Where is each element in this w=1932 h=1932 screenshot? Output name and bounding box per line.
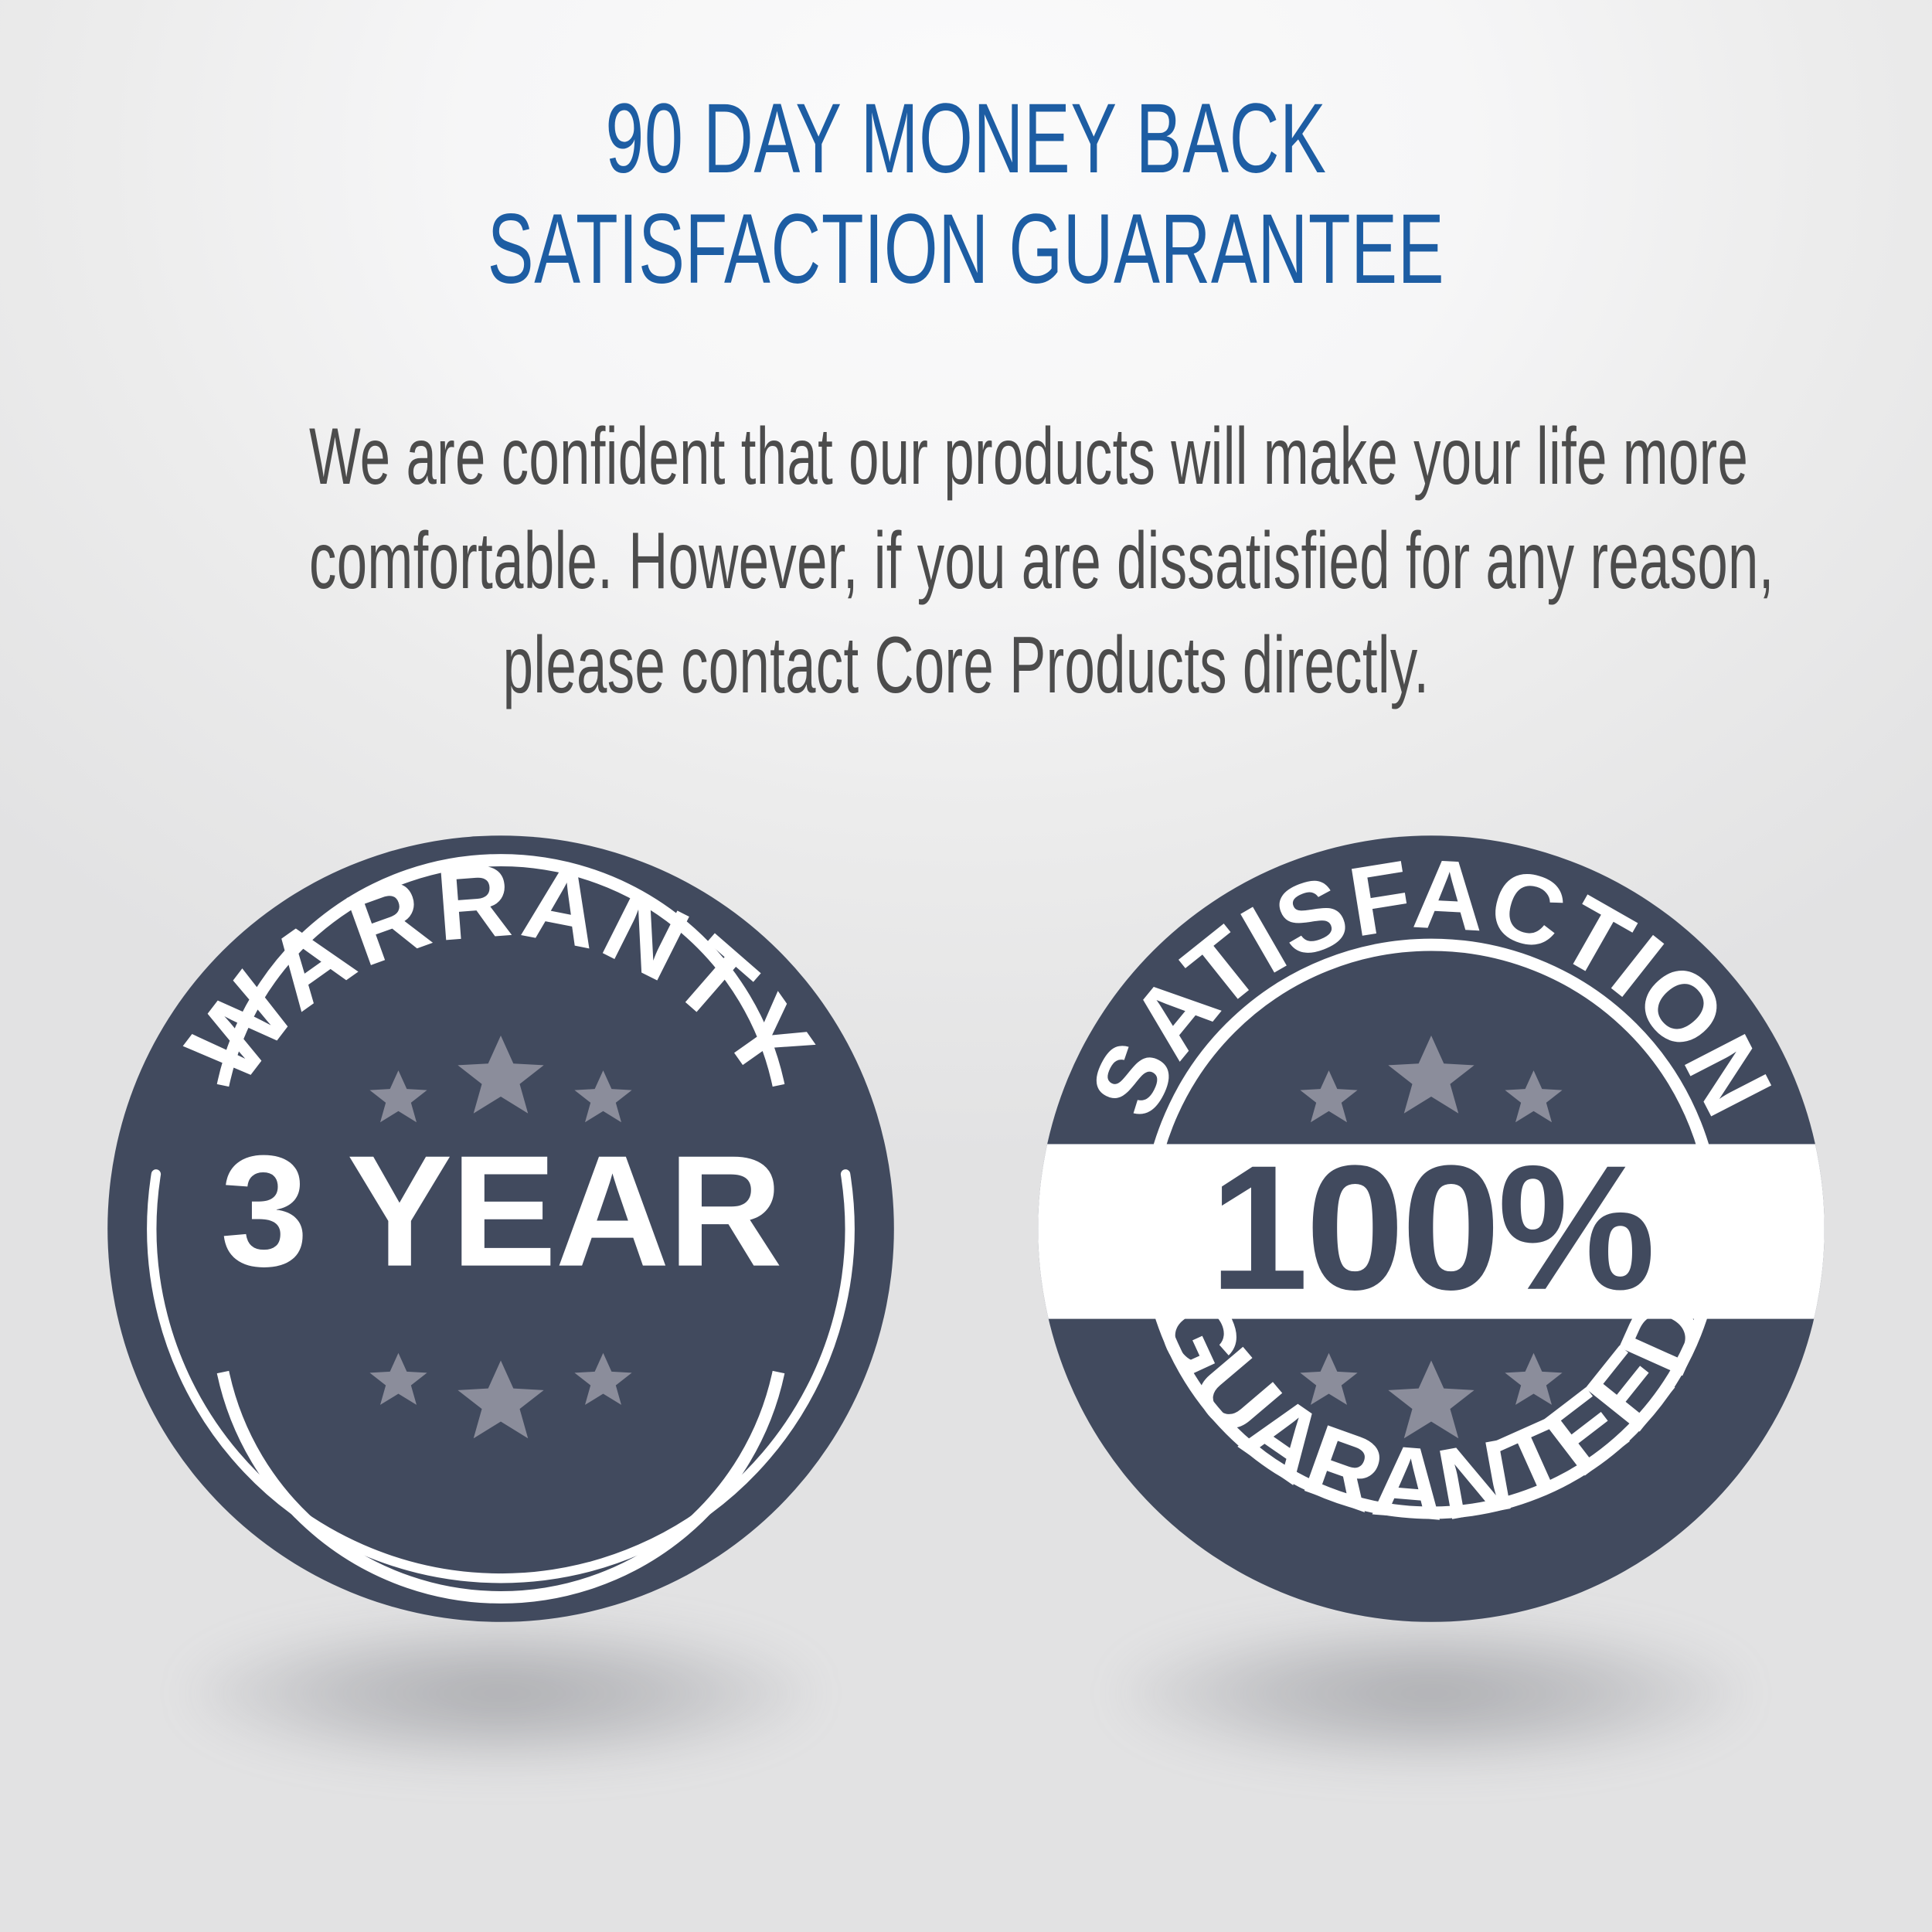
badge-row: WARRANTY 3 YEAR (0, 819, 1932, 1824)
satisfaction-band-text: 100% (1209, 1128, 1652, 1327)
guarantee-page: 90 DAY MONEY BACK SATISFACTION GUARANTEE… (0, 0, 1932, 1932)
warranty-badge-graphic: WARRANTY 3 YEAR (91, 819, 910, 1638)
guarantee-description: We are confident that our products will … (309, 405, 1623, 719)
warranty-badge: WARRANTY 3 YEAR (68, 819, 934, 1777)
satisfaction-badge-graphic: SATISFACTION GUARANTEED 100% (1022, 819, 1841, 1638)
page-title: 90 DAY MONEY BACK SATISFACTION GUARANTEE (290, 83, 1642, 305)
guarantee-description-line-1: We are confident that our products will … (309, 405, 1623, 509)
guarantee-description-line-3: please contact Core Products directly. (309, 614, 1623, 718)
warranty-center-text: 3 YEAR (220, 1123, 781, 1300)
satisfaction-badge-shadow (1122, 1620, 1740, 1767)
warranty-badge-shadow (192, 1620, 810, 1767)
page-title-line-2: SATISFACTION GUARANTEE (290, 194, 1642, 304)
guarantee-description-line-2: comfortable. However, if you are dissati… (309, 509, 1623, 614)
satisfaction-badge: SATISFACTION GUARANTEED 100% (998, 819, 1864, 1777)
page-title-line-1: 90 DAY MONEY BACK (290, 83, 1642, 194)
